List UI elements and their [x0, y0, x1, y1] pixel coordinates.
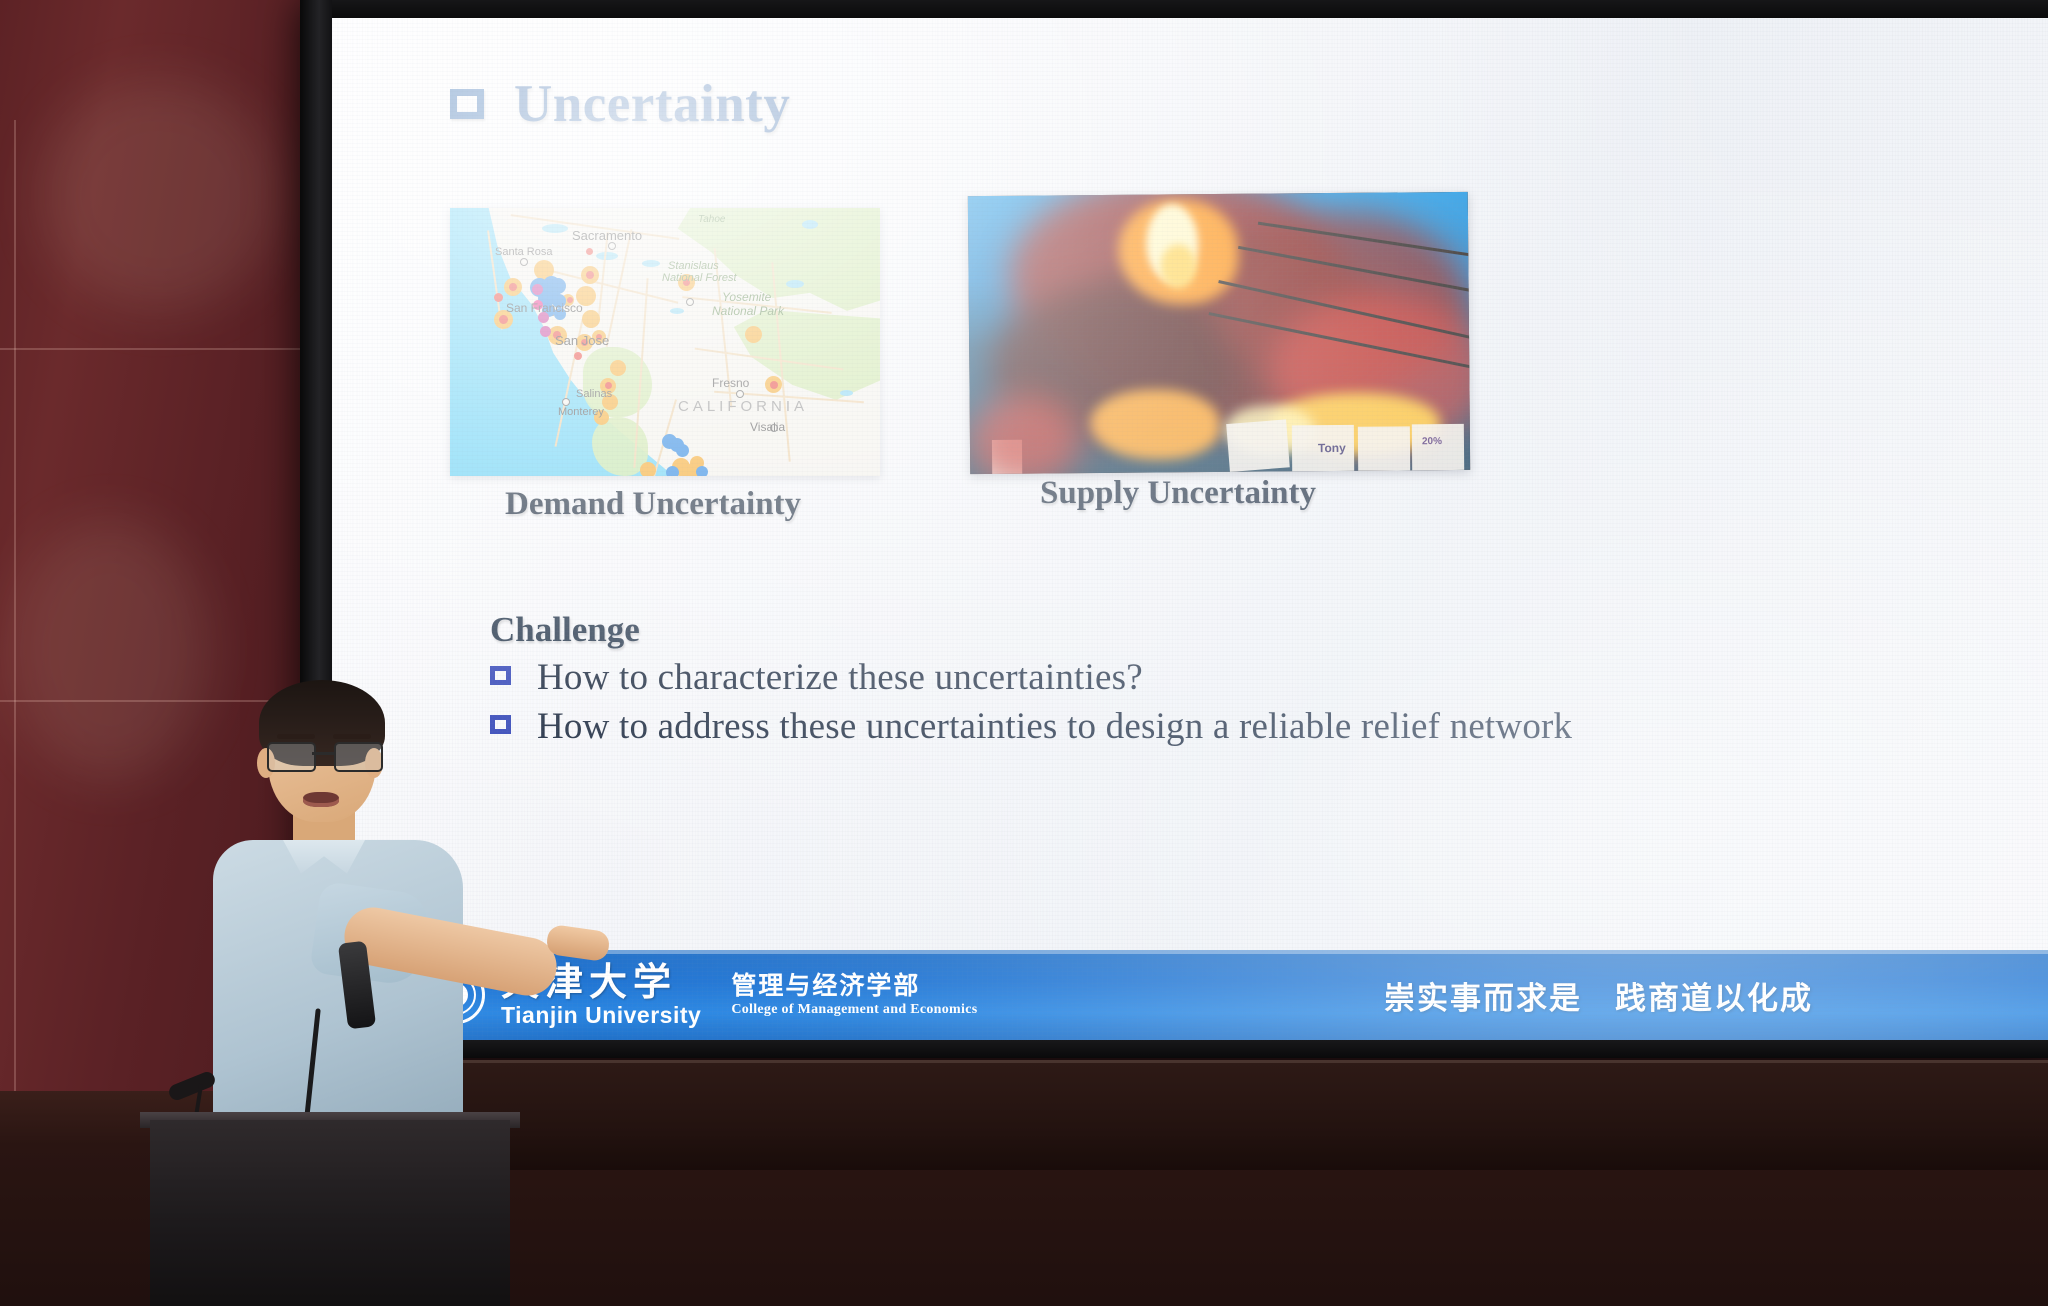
university-motto: 崇实事而求是 践商道以化成 — [1384, 973, 1813, 1018]
map-label: Monterey — [558, 406, 604, 418]
fire-sign-text: Tony — [1318, 441, 1346, 455]
podium — [150, 1120, 510, 1306]
map-label: Santa Rosa — [495, 246, 552, 258]
challenge-item-text: How to characterize these uncertainties? — [537, 656, 1143, 699]
fire-sign-text: 20% — [1422, 436, 1442, 447]
map-label: San Jose — [555, 333, 609, 348]
challenge-heading: Challenge — [490, 610, 640, 650]
challenge-list: How to characterize these uncertainties?… — [490, 656, 2048, 754]
map-region-label: Stanislaus — [668, 260, 719, 272]
presenter-figure — [195, 690, 525, 1170]
supply-uncertainty-photo: Tony 20% — [968, 192, 1470, 474]
list-item: How to address these uncertainties to de… — [490, 705, 2048, 748]
challenge-item-text: How to address these uncertainties to de… — [537, 705, 1572, 748]
map-state-label: CALIFORNIA — [678, 398, 808, 415]
screenshot-stage: Uncertainty — [0, 0, 2048, 1306]
map-label: Sacramento — [572, 228, 642, 243]
stage-front-edge — [330, 1060, 2048, 1170]
list-item: How to characterize these uncertainties? — [490, 656, 2048, 699]
caption-demand-uncertainty: Demand Uncertainty — [505, 486, 801, 523]
square-bullet-icon — [450, 89, 484, 119]
map-city-dot — [520, 258, 528, 266]
glasses-icon — [267, 742, 379, 768]
map-label: Visalia — [750, 420, 785, 434]
caption-supply-uncertainty: Supply Uncertainty — [1040, 475, 1316, 512]
slide-title-row: Uncertainty — [450, 74, 790, 134]
presenter-eyebrow — [333, 734, 371, 739]
page-title: Uncertainty — [514, 74, 790, 134]
map-city-dot — [736, 390, 744, 398]
map-region-label: Tahoe — [698, 214, 725, 225]
map-region-label: National Park — [712, 304, 784, 318]
map-city-dot — [608, 242, 616, 250]
square-bullet-icon — [490, 666, 511, 685]
presenter-eyebrow — [277, 734, 315, 739]
map-label: Fresno — [712, 376, 749, 390]
map-label: San Francisco — [506, 301, 583, 315]
demand-uncertainty-map: Sacramento Santa Rosa San Francisco San … — [450, 208, 880, 476]
presenter-mouth — [303, 792, 339, 807]
slide-footer-banner: 天津大学 Tianjin University 管理与经济学部 College … — [332, 950, 2048, 1040]
map-region-label: National Forest — [662, 272, 737, 284]
map-label: Salinas — [576, 388, 612, 400]
map-city-dot — [686, 298, 694, 306]
map-city-dot — [562, 398, 570, 406]
presentation-slide: Uncertainty — [332, 18, 2048, 1040]
map-region-label: Yosemite — [722, 290, 771, 304]
